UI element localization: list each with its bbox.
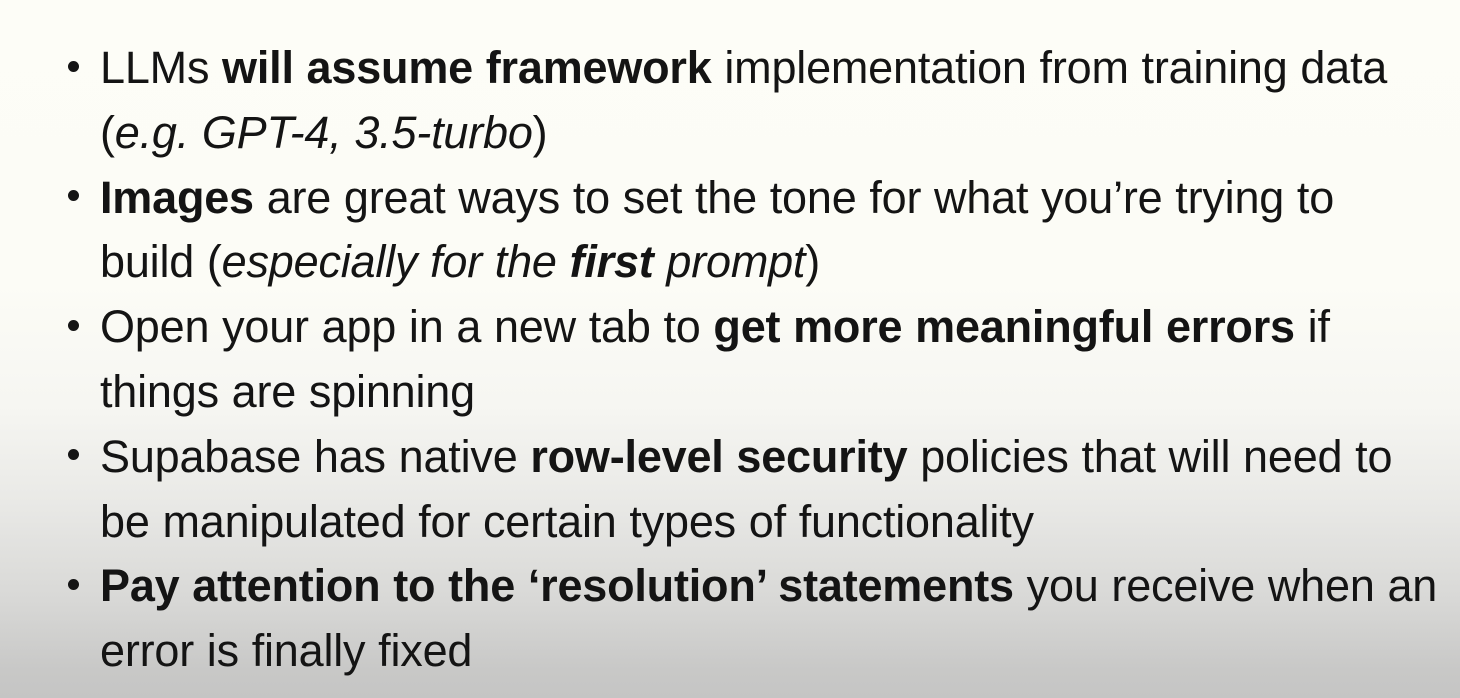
text-run: prompt <box>654 236 806 287</box>
text-run: Open your app in a new tab to <box>100 301 713 352</box>
bullet-text: Pay attention to the ‘resolution’ statem… <box>100 554 1440 684</box>
bullet-text: Supabase has native row-level security p… <box>100 425 1440 555</box>
text-run: first <box>570 236 654 287</box>
bullet-images-set-tone: Images are great ways to set the tone fo… <box>56 166 1440 296</box>
text-run: get more meaningful errors <box>713 301 1294 352</box>
text-run: especially for the <box>222 236 570 287</box>
bullet-point-icon <box>68 320 79 331</box>
text-run: will assume framework <box>222 42 712 93</box>
bullet-supabase-rls: Supabase has native row-level security p… <box>56 425 1440 555</box>
slide-canvas: LLMs will assume framework implementatio… <box>0 0 1460 698</box>
bullet-point-icon <box>68 449 79 460</box>
text-run: Supabase has native <box>100 431 530 482</box>
text-run: row-level security <box>530 431 907 482</box>
bullet-point-icon <box>68 579 79 590</box>
bullet-resolution-statements: Pay attention to the ‘resolution’ statem… <box>56 554 1440 684</box>
bullet-point-icon <box>68 61 79 72</box>
bullet-point-icon <box>68 190 79 201</box>
bullet-llms-assume-framework: LLMs will assume framework implementatio… <box>56 36 1440 166</box>
bullet-open-app-new-tab: Open your app in a new tab to get more m… <box>56 295 1440 425</box>
bullet-text: Images are great ways to set the tone fo… <box>100 166 1440 296</box>
bullet-list: LLMs will assume framework implementatio… <box>56 36 1440 684</box>
text-run: LLMs <box>100 42 222 93</box>
text-run: ) <box>805 236 820 287</box>
text-run: Images <box>100 172 254 223</box>
bullet-text: LLMs will assume framework implementatio… <box>100 36 1440 166</box>
bullet-text: Open your app in a new tab to get more m… <box>100 295 1440 425</box>
text-run: e.g. GPT-4, 3.5-turbo <box>115 107 533 158</box>
text-run: Pay attention to the ‘resolution’ statem… <box>100 560 1014 611</box>
text-run: ) <box>533 107 548 158</box>
